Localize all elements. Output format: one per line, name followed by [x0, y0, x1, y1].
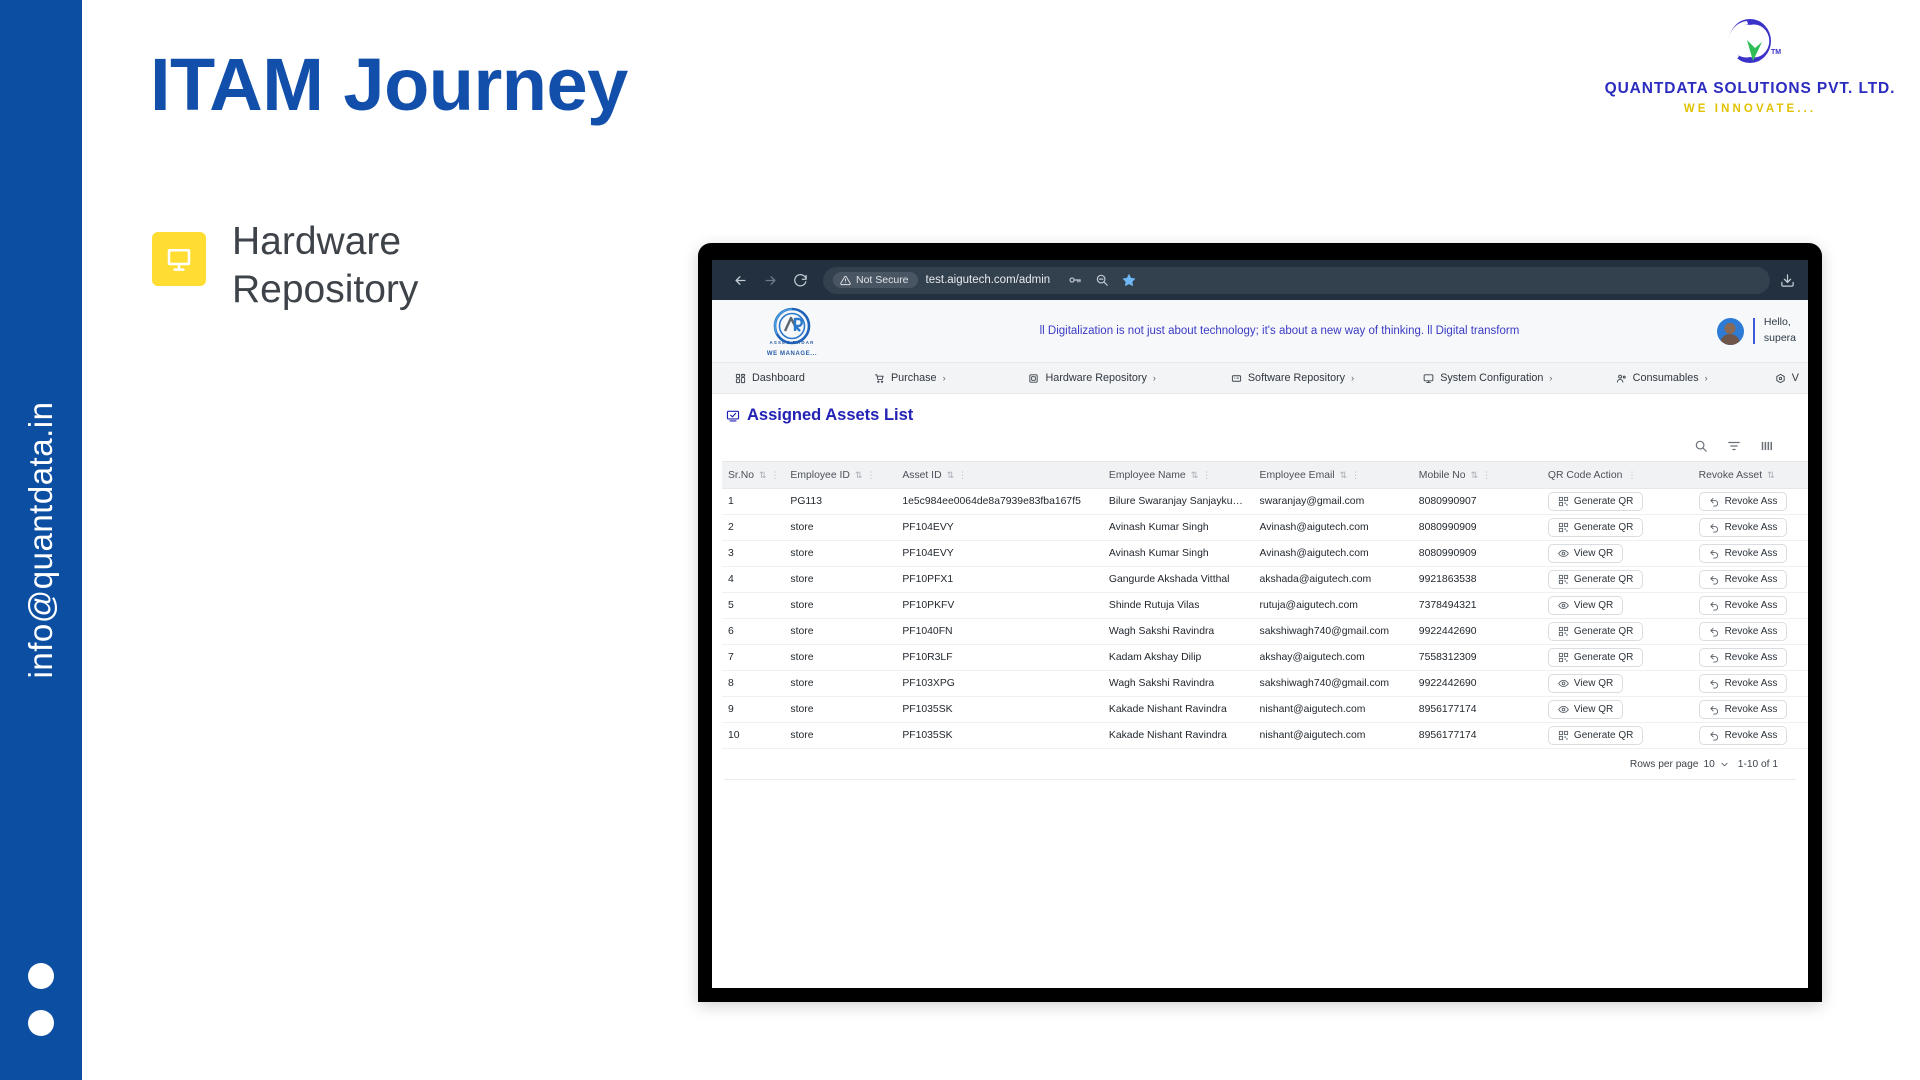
page-heading-row: Assigned Assets List: [712, 394, 1808, 435]
qr-code-icon: [1558, 522, 1569, 533]
not-secure-badge[interactable]: Not Secure: [833, 272, 918, 288]
undo-icon: [1709, 652, 1720, 663]
col-header-revoke-asset[interactable]: Revoke Asset⇅: [1693, 462, 1808, 489]
col-label: Asset ID: [902, 470, 941, 481]
cell-srno: 9: [722, 697, 784, 723]
button-label: View QR: [1574, 678, 1613, 689]
undo-icon: [1709, 574, 1720, 585]
table-row[interactable]: 1PG1131e5c984ee0064de8a7939e83fba167f5Bi…: [722, 489, 1808, 515]
cell-employee-email: Avinash@aigutech.com: [1254, 541, 1413, 567]
qr-code-icon: [1558, 730, 1569, 741]
greeting-line-1: Hello,: [1764, 315, 1796, 331]
cell-revoke-asset: Revoke Ass: [1693, 567, 1808, 593]
button-label: Revoke Ass: [1725, 574, 1778, 585]
cell-employee-name: Gangurde Akshada Vitthal: [1103, 567, 1254, 593]
cell-qr-code-action: View QR: [1542, 541, 1693, 567]
cell-qr-code-action: Generate QR: [1542, 515, 1693, 541]
revoke-asset-button[interactable]: Revoke Ass: [1699, 570, 1788, 589]
cell-mobile-no: 7558312309: [1413, 645, 1542, 671]
user-avatar[interactable]: [1717, 318, 1744, 345]
table-pagination: Rows per page 10 1-10 of 1: [712, 749, 1808, 770]
sort-icon[interactable]: ⇅: [947, 470, 954, 481]
nav-item-vendor[interactable]: V: [1766, 372, 1808, 384]
cell-employee-name: Avinash Kumar Singh: [1103, 541, 1254, 567]
button-label: Revoke Ass: [1725, 600, 1778, 611]
generate-qr-button[interactable]: Generate QR: [1548, 648, 1643, 667]
button-label: View QR: [1574, 704, 1613, 715]
cell-mobile-no: 8956177174: [1413, 723, 1542, 749]
chevron-right-icon: ›: [1153, 373, 1156, 383]
url-text: test.aigutech.com/admin: [926, 274, 1051, 286]
app-header: ASSET RADAR WE MANAGE... ll Digitalizati…: [712, 300, 1808, 363]
button-label: View QR: [1574, 548, 1613, 559]
nav-label: V: [1792, 372, 1799, 384]
chevron-right-icon: ›: [1705, 373, 1708, 383]
table-row[interactable]: 6storePF1040FNWagh Sakshi Ravindrasakshi…: [722, 619, 1808, 645]
cell-revoke-asset: Revoke Ass: [1693, 723, 1808, 749]
columns-icon[interactable]: [1760, 439, 1774, 453]
cell-employee-email: nishant@aigutech.com: [1254, 697, 1413, 723]
cell-employee-id: store: [784, 723, 896, 749]
revoke-asset-button[interactable]: Revoke Ass: [1699, 544, 1788, 563]
button-label: Revoke Ass: [1725, 548, 1778, 559]
brand-name: QUANTDATA SOLUTIONS PVT. LTD.: [1600, 80, 1900, 98]
zoom-out-icon[interactable]: [1095, 273, 1109, 287]
chevron-down-icon[interactable]: [1720, 760, 1729, 769]
generate-qr-button[interactable]: Generate QR: [1548, 726, 1643, 745]
col-header-employee-name[interactable]: Employee Name⇅⋮: [1103, 462, 1254, 489]
cell-qr-code-action: Generate QR: [1542, 489, 1693, 515]
cell-asset-id: PF104EVY: [896, 541, 1103, 567]
cell-employee-id: store: [784, 541, 896, 567]
announcement-marquee: ll Digitalization is not just about tech…: [842, 325, 1717, 337]
revoke-asset-button[interactable]: Revoke Ass: [1699, 726, 1788, 745]
undo-icon: [1709, 678, 1720, 689]
table-header-row: Sr.No⇅⋮ Employee ID⇅⋮ Asset ID⇅⋮ Employe…: [722, 462, 1808, 489]
cell-asset-id: 1e5c984ee0064de8a7939e83fba167f5: [896, 489, 1103, 515]
monitor-icon: [152, 232, 206, 286]
cell-srno: 3: [722, 541, 784, 567]
col-header-employee-id[interactable]: Employee ID⇅⋮: [784, 462, 896, 489]
table-row[interactable]: 4storePF10PFX1Gangurde Akshada Vitthalak…: [722, 567, 1808, 593]
chevron-right-icon: ›: [1549, 373, 1552, 383]
quantdata-q-logo: TM: [1600, 14, 1900, 76]
cell-mobile-no: 9922442690: [1413, 671, 1542, 697]
cell-qr-code-action: Generate QR: [1542, 645, 1693, 671]
nav-item-consumables[interactable]: Consumables ›: [1607, 372, 1717, 384]
page-content: Assigned Assets List: [712, 394, 1808, 988]
nav-label: Software Repository: [1248, 372, 1345, 384]
user-profile[interactable]: Hello, supera: [1717, 315, 1796, 347]
column-menu-icon[interactable]: ⋮: [1627, 470, 1636, 481]
company-logo: TM QUANTDATA SOLUTIONS PVT. LTD. WE INNO…: [1600, 14, 1900, 115]
generate-qr-button[interactable]: Generate QR: [1548, 622, 1643, 641]
cell-revoke-asset: Revoke Ass: [1693, 697, 1808, 723]
undo-icon: [1709, 548, 1720, 559]
cell-employee-id: store: [784, 567, 896, 593]
rows-per-page-label: Rows per page: [1630, 759, 1699, 770]
rows-per-page-select[interactable]: Rows per page 10: [1630, 759, 1729, 770]
table-row[interactable]: 7storePF10R3LFKadam Akshay Dilipakshay@a…: [722, 645, 1808, 671]
search-icon[interactable]: [1694, 439, 1708, 453]
eye-icon: [1558, 600, 1569, 611]
revoke-asset-button[interactable]: Revoke Ass: [1699, 648, 1788, 667]
col-label: Revoke Asset: [1699, 470, 1763, 481]
view-qr-button[interactable]: View QR: [1548, 596, 1623, 615]
cell-employee-id: store: [784, 515, 896, 541]
table-row[interactable]: 10storePF1035SKKakade Nishant Ravindrani…: [722, 723, 1808, 749]
table-toolbar: [712, 435, 1808, 461]
eye-icon: [1558, 678, 1569, 689]
sort-icon[interactable]: ⇅: [1471, 470, 1478, 481]
table-row[interactable]: 9storePF1035SKKakade Nishant Ravindranis…: [722, 697, 1808, 723]
star-icon[interactable]: [1122, 273, 1136, 287]
main-navigation: Dashboard Purchase ›: [712, 363, 1808, 394]
cell-revoke-asset: Revoke Ass: [1693, 671, 1808, 697]
cell-srno: 6: [722, 619, 784, 645]
assigned-assets-title: Assigned Assets List: [747, 406, 913, 425]
button-label: Revoke Ass: [1725, 730, 1778, 741]
decorative-dot-2: [28, 1010, 54, 1036]
cell-employee-email: sakshiwagh740@gmail.com: [1254, 619, 1413, 645]
cell-srno: 5: [722, 593, 784, 619]
pagination-range: 1-10 of 1: [1738, 759, 1778, 770]
people-icon: [1616, 373, 1627, 384]
col-label: Mobile No: [1419, 470, 1466, 481]
svg-text:ASSET RADAR: ASSET RADAR: [770, 340, 815, 345]
revoke-asset-button[interactable]: Revoke Ass: [1699, 700, 1788, 719]
cell-revoke-asset: Revoke Ass: [1693, 489, 1808, 515]
not-secure-label: Not Secure: [856, 274, 909, 286]
button-label: View QR: [1574, 600, 1613, 611]
monitor-config-icon: [1423, 373, 1434, 384]
omnibox-actions: [1068, 273, 1140, 287]
arrow-right-icon[interactable]: [755, 265, 785, 295]
button-label: Revoke Ass: [1725, 496, 1778, 507]
cell-qr-code-action: View QR: [1542, 593, 1693, 619]
filter-icon[interactable]: [1727, 439, 1741, 453]
cell-employee-id: store: [784, 593, 896, 619]
col-header-qr-code-action[interactable]: QR Code Action⋮: [1542, 462, 1693, 489]
undo-icon: [1709, 704, 1720, 715]
button-label: Revoke Ass: [1725, 522, 1778, 533]
chevron-right-icon: ›: [943, 373, 946, 383]
bullet-row: Hardware Repository: [152, 218, 418, 313]
column-menu-icon[interactable]: ⋮: [771, 470, 780, 481]
view-qr-button[interactable]: View QR: [1548, 544, 1623, 563]
cell-srno: 10: [722, 723, 784, 749]
arrow-left-icon[interactable]: [725, 265, 755, 295]
cell-asset-id: PF1035SK: [896, 697, 1103, 723]
cell-employee-email: Avinash@aigutech.com: [1254, 515, 1413, 541]
sort-icon[interactable]: ⇅: [1191, 470, 1198, 481]
cell-employee-name: Kakade Nishant Ravindra: [1103, 723, 1254, 749]
nav-item-software-repository[interactable]: Software Repository ›: [1222, 372, 1363, 384]
table-row[interactable]: 3storePF104EVYAvinash Kumar SinghAvinash…: [722, 541, 1808, 567]
view-qr-button[interactable]: View QR: [1548, 700, 1623, 719]
warning-triangle-icon: [840, 275, 851, 286]
eye-icon: [1558, 704, 1569, 715]
qr-code-icon: [1558, 574, 1569, 585]
app-logo-tagline: WE MANAGE...: [767, 351, 817, 357]
vendor-icon: [1775, 373, 1786, 384]
cell-srno: 8: [722, 671, 784, 697]
cell-asset-id: PF10R3LF: [896, 645, 1103, 671]
qr-code-icon: [1558, 652, 1569, 663]
table-row[interactable]: 2storePF104EVYAvinash Kumar SinghAvinash…: [722, 515, 1808, 541]
contact-email: info@quantdata.in: [22, 402, 60, 679]
key-icon[interactable]: [1068, 273, 1082, 287]
cell-mobile-no: 9921863538: [1413, 567, 1542, 593]
button-label: Generate QR: [1574, 496, 1633, 507]
column-menu-icon[interactable]: ⋮: [1351, 470, 1360, 481]
button-label: Revoke Ass: [1725, 626, 1778, 637]
laptop-screen-bezel: Not Secure test.aigutech.com/admin: [698, 243, 1822, 1002]
revoke-asset-button[interactable]: Revoke Ass: [1699, 622, 1788, 641]
sort-icon[interactable]: ⇅: [759, 470, 766, 481]
button-label: Generate QR: [1574, 730, 1633, 741]
revoke-asset-button[interactable]: Revoke Ass: [1699, 674, 1788, 693]
sort-icon[interactable]: ⇅: [1767, 470, 1774, 481]
cell-qr-code-action: Generate QR: [1542, 567, 1693, 593]
nav-label: Purchase: [891, 372, 937, 384]
user-greeting: Hello, supera: [1764, 315, 1796, 347]
table-header: Sr.No⇅⋮ Employee ID⇅⋮ Asset ID⇅⋮ Employe…: [722, 462, 1808, 489]
rows-per-page-value: 10: [1703, 759, 1714, 770]
cell-mobile-no: 7378494321: [1413, 593, 1542, 619]
assigned-assets-table-wrap: Sr.No⇅⋮ Employee ID⇅⋮ Asset ID⇅⋮ Employe…: [712, 461, 1808, 749]
nav-label: Consumables: [1633, 372, 1699, 384]
cell-employee-id: store: [784, 645, 896, 671]
cell-employee-email: sakshiwagh740@gmail.com: [1254, 671, 1413, 697]
nav-label: Hardware Repository: [1045, 372, 1146, 384]
cell-employee-name: Wagh Sakshi Ravindra: [1103, 619, 1254, 645]
eye-icon: [1558, 548, 1569, 559]
cell-asset-id: PF1040FN: [896, 619, 1103, 645]
cell-employee-email: akshay@aigutech.com: [1254, 645, 1413, 671]
cell-revoke-asset: Revoke Ass: [1693, 645, 1808, 671]
sort-icon[interactable]: ⇅: [855, 470, 862, 481]
cell-srno: 1: [722, 489, 784, 515]
browser-right-actions: [1780, 273, 1795, 288]
cell-employee-id: store: [784, 671, 896, 697]
undo-icon: [1709, 600, 1720, 611]
decorative-dot-1: [28, 963, 54, 989]
revoke-asset-button[interactable]: Revoke Ass: [1699, 518, 1788, 537]
greeting-line-2: supera: [1764, 331, 1796, 347]
col-header-asset-id[interactable]: Asset ID⇅⋮: [896, 462, 1103, 489]
cell-employee-name: Wagh Sakshi Ravindra: [1103, 671, 1254, 697]
left-sidebar-rail: info@quantdata.in: [0, 0, 82, 1080]
divider: [1753, 318, 1755, 344]
footer-divider: [724, 779, 1796, 780]
cell-qr-code-action: Generate QR: [1542, 619, 1693, 645]
view-qr-button[interactable]: View QR: [1548, 674, 1623, 693]
slide-root: info@quantdata.in ITAM Journey Hardware …: [0, 0, 1920, 1080]
nav-item-system-configuration[interactable]: System Configuration ›: [1414, 372, 1561, 384]
chevron-right-icon: ›: [1351, 373, 1354, 383]
nav-item-dashboard[interactable]: Dashboard: [726, 372, 814, 384]
button-label: Revoke Ass: [1725, 704, 1778, 715]
software-box-icon: [1231, 373, 1242, 384]
checked-monitor-icon: [726, 409, 740, 423]
cell-employee-email: nishant@aigutech.com: [1254, 723, 1413, 749]
cell-employee-name: Shinde Rutuja Vilas: [1103, 593, 1254, 619]
nav-label: Dashboard: [752, 372, 805, 384]
cell-revoke-asset: Revoke Ass: [1693, 619, 1808, 645]
column-menu-icon[interactable]: ⋮: [1482, 470, 1491, 481]
cell-srno: 7: [722, 645, 784, 671]
reload-icon[interactable]: [785, 265, 815, 295]
browser-window: Not Secure test.aigutech.com/admin: [712, 260, 1808, 988]
cell-employee-email: swaranjay@gmail.com: [1254, 489, 1413, 515]
button-label: Generate QR: [1574, 626, 1633, 637]
button-label: Generate QR: [1574, 574, 1633, 585]
qr-code-icon: [1558, 626, 1569, 637]
cell-revoke-asset: Revoke Ass: [1693, 541, 1808, 567]
cell-employee-email: akshada@aigutech.com: [1254, 567, 1413, 593]
cell-revoke-asset: Revoke Ass: [1693, 593, 1808, 619]
cell-employee-id: PG113: [784, 489, 896, 515]
cart-icon: [874, 373, 885, 384]
cell-qr-code-action: Generate QR: [1542, 723, 1693, 749]
cell-revoke-asset: Revoke Ass: [1693, 515, 1808, 541]
cell-employee-name: Kakade Nishant Ravindra: [1103, 697, 1254, 723]
column-menu-icon[interactable]: ⋮: [1202, 470, 1211, 481]
page-title: ITAM Journey: [150, 48, 628, 122]
cell-asset-id: PF103XPG: [896, 671, 1103, 697]
bullet-label: Hardware Repository: [232, 218, 418, 313]
col-header-mobile-no[interactable]: Mobile No⇅⋮: [1413, 462, 1542, 489]
address-bar[interactable]: Not Secure test.aigutech.com/admin: [823, 267, 1770, 294]
cell-asset-id: PF10PFX1: [896, 567, 1103, 593]
cell-mobile-no: 9922442690: [1413, 619, 1542, 645]
cell-srno: 2: [722, 515, 784, 541]
button-label: Generate QR: [1574, 652, 1633, 663]
column-menu-icon[interactable]: ⋮: [866, 470, 875, 481]
cell-employee-id: store: [784, 697, 896, 723]
cell-employee-name: Bilure Swaranjay Sanjaykumar: [1103, 489, 1254, 515]
table-row[interactable]: 5storePF10PKFVShinde Rutuja Vilasrutuja@…: [722, 593, 1808, 619]
qr-code-icon: [1558, 496, 1569, 507]
sort-icon[interactable]: ⇅: [1340, 470, 1347, 481]
col-label: QR Code Action: [1548, 470, 1623, 481]
col-label: Employee Name: [1109, 470, 1186, 481]
nav-item-hardware-repository[interactable]: Hardware Repository ›: [1019, 372, 1164, 384]
cell-mobile-no: 8080990909: [1413, 515, 1542, 541]
dashboard-grid-icon: [735, 373, 746, 384]
col-label: Sr.No: [728, 470, 754, 481]
cell-employee-name: Avinash Kumar Singh: [1103, 515, 1254, 541]
cell-mobile-no: 8080990907: [1413, 489, 1542, 515]
svg-text:TM: TM: [1771, 49, 1781, 56]
button-label: Revoke Ass: [1725, 652, 1778, 663]
generate-qr-button[interactable]: Generate QR: [1548, 570, 1643, 589]
generate-qr-button[interactable]: Generate QR: [1548, 518, 1643, 537]
table-row[interactable]: 8storePF103XPGWagh Sakshi Ravindrasakshi…: [722, 671, 1808, 697]
generate-qr-button[interactable]: Generate QR: [1548, 492, 1643, 511]
undo-icon: [1709, 522, 1720, 533]
cell-mobile-no: 8080990909: [1413, 541, 1542, 567]
undo-icon: [1709, 496, 1720, 507]
cell-employee-email: rutuja@aigutech.com: [1254, 593, 1413, 619]
asset-radar-logo[interactable]: ASSET RADAR WE MANAGE...: [742, 306, 842, 357]
cell-qr-code-action: View QR: [1542, 697, 1693, 723]
assigned-assets-table: Sr.No⇅⋮ Employee ID⇅⋮ Asset ID⇅⋮ Employe…: [722, 461, 1808, 749]
col-header-employee-email[interactable]: Employee Email⇅⋮: [1254, 462, 1413, 489]
cell-employee-id: store: [784, 619, 896, 645]
col-label: Employee ID: [790, 470, 849, 481]
laptop-mockup: Not Secure test.aigutech.com/admin: [698, 243, 1822, 1002]
revoke-asset-button[interactable]: Revoke Ass: [1699, 492, 1788, 511]
nav-item-purchase[interactable]: Purchase ›: [865, 372, 955, 384]
download-icon[interactable]: [1780, 273, 1795, 288]
hardware-chip-icon: [1028, 373, 1039, 384]
cell-asset-id: PF104EVY: [896, 515, 1103, 541]
nav-label: System Configuration: [1440, 372, 1543, 384]
cell-asset-id: PF10PKFV: [896, 593, 1103, 619]
brand-tagline: WE INNOVATE...: [1600, 103, 1900, 115]
column-menu-icon[interactable]: ⋮: [958, 470, 967, 481]
undo-icon: [1709, 626, 1720, 637]
browser-toolbar: Not Secure test.aigutech.com/admin: [712, 260, 1808, 300]
table-body: 1PG1131e5c984ee0064de8a7939e83fba167f5Bi…: [722, 489, 1808, 749]
cell-qr-code-action: View QR: [1542, 671, 1693, 697]
undo-icon: [1709, 730, 1720, 741]
cell-srno: 4: [722, 567, 784, 593]
cell-asset-id: PF1035SK: [896, 723, 1103, 749]
button-label: Generate QR: [1574, 522, 1633, 533]
cell-mobile-no: 8956177174: [1413, 697, 1542, 723]
cell-employee-name: Kadam Akshay Dilip: [1103, 645, 1254, 671]
col-label: Employee Email: [1260, 470, 1335, 481]
button-label: Revoke Ass: [1725, 678, 1778, 689]
col-header-srno[interactable]: Sr.No⇅⋮: [722, 462, 784, 489]
revoke-asset-button[interactable]: Revoke Ass: [1699, 596, 1788, 615]
